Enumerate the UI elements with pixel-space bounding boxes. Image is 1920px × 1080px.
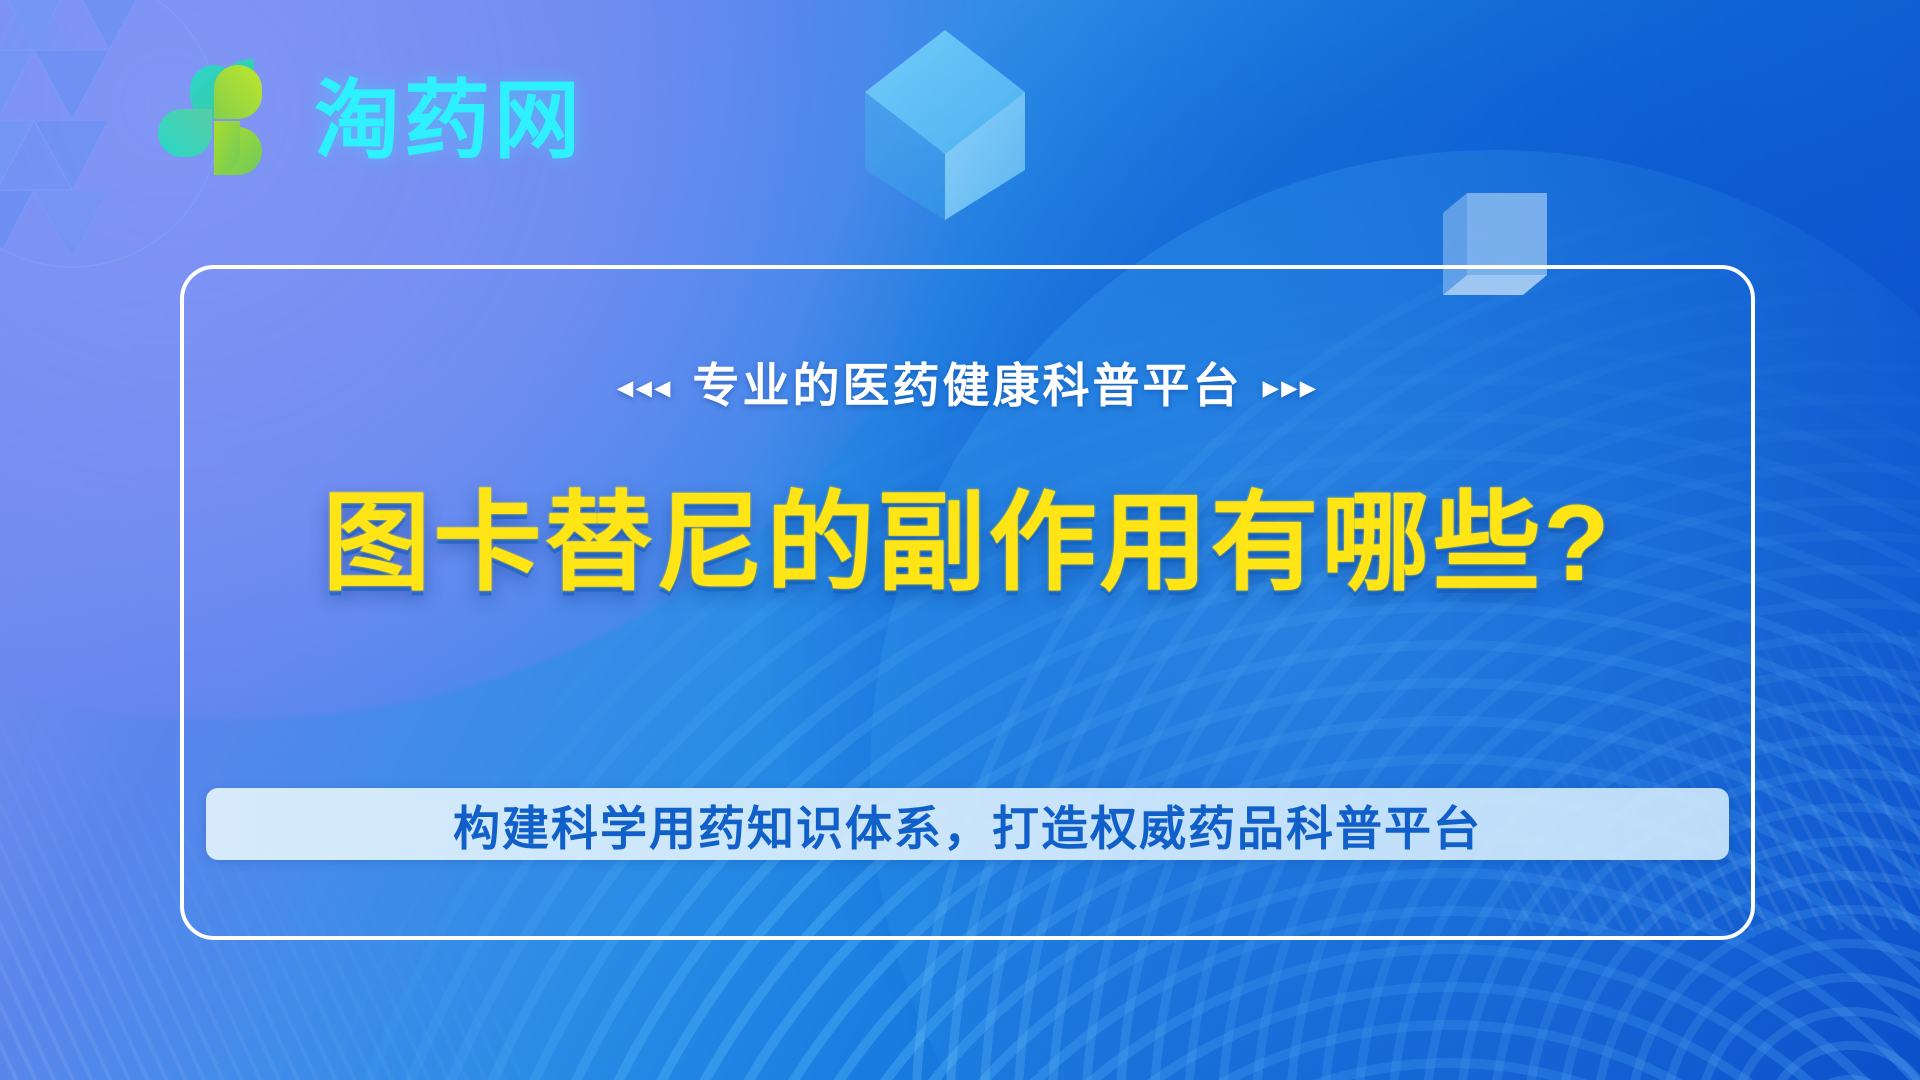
card-kicker: ◂◂◂专业的医药健康科普平台▸▸▸: [184, 347, 1751, 416]
brand-name: 淘药网: [314, 78, 584, 164]
tagline-ribbon: 构建科学用药知识体系，打造权威药品科普平台: [206, 788, 1729, 860]
banner-canvas: 淘药网 ◂◂◂专业的医药健康科普平台▸▸▸ 图卡替尼的副作用有哪些? 构建科学用…: [0, 0, 1920, 1080]
page-title: 图卡替尼的副作用有哪些?: [184, 481, 1751, 605]
content-card: ◂◂◂专业的医药健康科普平台▸▸▸ 图卡替尼的副作用有哪些? 构建科学用药知识体…: [180, 265, 1755, 940]
tagline-text: 构建科学用药知识体系，打造权威药品科普平台: [453, 790, 1482, 859]
arrows-left-icon: ◂◂◂: [617, 368, 673, 405]
medical-cross-leaf-icon: [152, 55, 284, 187]
kicker-text: 专业的医药健康科普平台: [693, 359, 1243, 412]
arrows-right-icon: ▸▸▸: [1263, 368, 1319, 405]
isometric-cube-large-icon: [850, 20, 1040, 220]
brand-logo[interactable]: 淘药网: [152, 55, 584, 187]
